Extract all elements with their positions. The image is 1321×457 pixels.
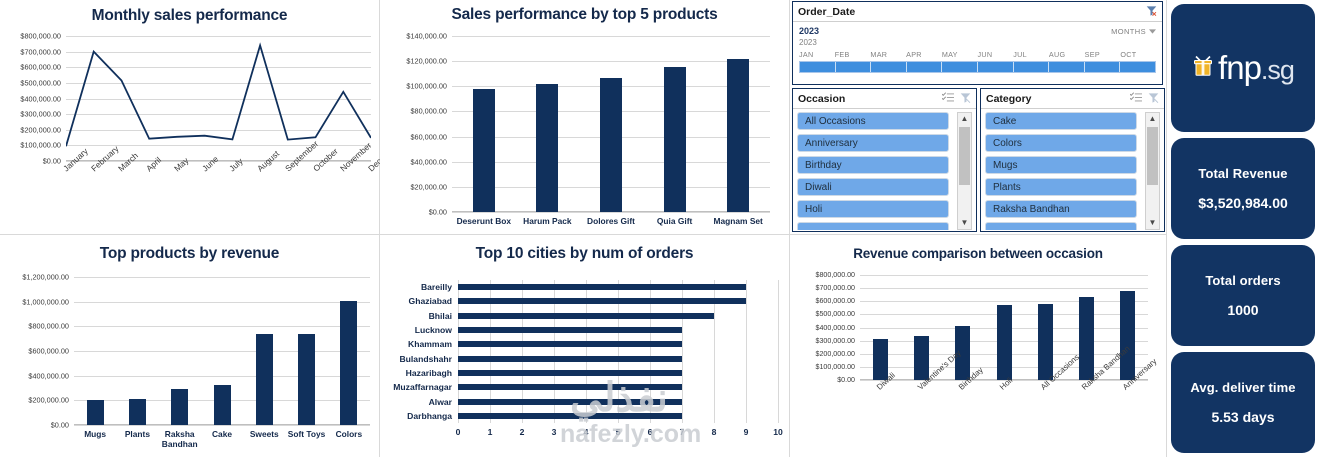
x-axis-tick-label: 7 xyxy=(680,427,685,437)
x-axis-tick-label: 3 xyxy=(552,427,557,437)
y-axis-tick-label: $500,000.00 xyxy=(20,78,66,87)
y-axis-tick-label: $300,000.00 xyxy=(816,337,860,345)
gridline xyxy=(860,275,1148,276)
y-axis-tick-label: $80,000.00 xyxy=(410,107,452,116)
x-axis-tick-label: Raksha Bandhan xyxy=(157,429,203,449)
chart-title-top-cities: Top 10 cities by num of orders xyxy=(380,235,789,263)
scrollbar-thumb[interactable] xyxy=(1147,127,1158,185)
bar xyxy=(473,89,495,212)
slicer-item[interactable]: Holi xyxy=(797,200,949,218)
x-axis-tick-label: Harum Pack xyxy=(523,216,571,226)
slicer-item[interactable]: Cake xyxy=(985,112,1137,130)
slicer-item[interactable]: Anniversary xyxy=(797,134,949,152)
timeline-month-segment[interactable] xyxy=(1120,62,1155,72)
gridline xyxy=(74,351,370,352)
y-axis-tick-label: $600,000.00 xyxy=(816,297,860,305)
x-axis-tick-label: Plants xyxy=(114,429,160,439)
chart-title-top5-products: Sales performance by top 5 products xyxy=(380,0,789,24)
timeline-month-segment[interactable] xyxy=(1049,62,1085,72)
gridline xyxy=(860,301,1148,302)
bar xyxy=(340,301,357,425)
panel-top-cities: Top 10 cities by num of orders 012345678… xyxy=(380,235,790,457)
bar xyxy=(1079,297,1094,380)
bar xyxy=(536,84,558,212)
slicer-category-header: Category xyxy=(981,89,1164,109)
bottom-row: Top products by revenue $0.00$200,000.00… xyxy=(0,235,1166,457)
bar xyxy=(298,334,315,425)
bar xyxy=(256,334,273,425)
y-axis-tick-label: $20,000.00 xyxy=(410,182,452,191)
y-axis-tick-label: Bulandshahr xyxy=(399,354,458,364)
x-axis-tick-label: 4 xyxy=(584,427,589,437)
kpi-card-avg-deliver-time: Avg. deliver time 5.53 days xyxy=(1171,352,1315,453)
timeline-slicer-icons xyxy=(1146,3,1157,21)
kpi-label-total-revenue: Total Revenue xyxy=(1198,166,1287,181)
slicer-item[interactable] xyxy=(797,222,949,230)
chart-plot-monthly-sales: $0.00$100,000.00$200,000.00$300,000.00$4… xyxy=(66,36,371,161)
x-axis-tick-label: 9 xyxy=(744,427,749,437)
y-axis-tick-label: Lucknow xyxy=(415,325,458,335)
timeline-month-label: JAN xyxy=(799,50,835,59)
slicer-occasion-title: Occasion xyxy=(798,93,942,105)
scrollbar-track[interactable] xyxy=(1146,125,1159,217)
gridline xyxy=(746,280,747,423)
bar xyxy=(727,59,749,212)
timeline-month-segment[interactable] xyxy=(978,62,1014,72)
gridline xyxy=(452,61,770,62)
y-axis-tick-label: $200,000.00 xyxy=(816,350,860,358)
x-axis-tick-label: Colors xyxy=(326,429,372,439)
x-axis-tick-label: Cake xyxy=(199,429,245,439)
x-axis-tick-label: 0 xyxy=(456,427,461,437)
scrollbar-track[interactable] xyxy=(958,125,971,217)
slicer-item[interactable]: Diwali xyxy=(797,178,949,196)
timeline-month-segment[interactable] xyxy=(871,62,907,72)
timeline-month-label: JUN xyxy=(978,50,1014,59)
chart-title-top-products-revenue: Top products by revenue xyxy=(0,235,379,263)
slicer-item[interactable]: Birthday xyxy=(797,156,949,174)
slicer-occasion-scrollbar[interactable]: ▲ ▼ xyxy=(957,112,972,230)
timeline-year-subheader: 2023 xyxy=(799,38,1156,47)
bar xyxy=(664,67,686,212)
slicer-occasion-items[interactable]: All OccasionsAnniversaryBirthdayDiwaliHo… xyxy=(797,112,949,230)
slicer-occasion-header: Occasion xyxy=(793,89,976,109)
chevron-up-icon[interactable]: ▲ xyxy=(1149,113,1157,125)
slicer-category-items[interactable]: CakeColorsMugsPlantsRaksha Bandhan xyxy=(985,112,1137,230)
y-axis-tick-label: Bareilly xyxy=(421,282,458,292)
y-axis-tick-label: $60,000.00 xyxy=(410,132,452,141)
slicer-category-scrollbar[interactable]: ▲ ▼ xyxy=(1145,112,1160,230)
y-axis-tick-label: $400,000.00 xyxy=(20,94,66,103)
y-axis-tick-label: $1,000,000.00 xyxy=(22,297,74,306)
y-axis-tick-label: $700,000.00 xyxy=(816,284,860,292)
multi-select-icon[interactable] xyxy=(942,90,954,108)
dashboard: Monthly sales performance $0.00$100,000.… xyxy=(0,0,1321,457)
slicer-item[interactable]: Mugs xyxy=(985,156,1137,174)
clear-filter-icon[interactable] xyxy=(960,90,971,108)
chevron-down-icon[interactable]: ▼ xyxy=(1149,217,1157,229)
timeline-month-segment[interactable] xyxy=(942,62,978,72)
timeline-slicer-order-date[interactable]: Order_Date 2023 xyxy=(792,1,1163,85)
line-series xyxy=(66,36,371,161)
bar xyxy=(458,327,682,333)
x-axis-tick-label: 8 xyxy=(712,427,717,437)
brand-logo: fnp.sg xyxy=(1192,49,1294,87)
timeline-month-label: AUG xyxy=(1049,50,1085,59)
multi-select-icon[interactable] xyxy=(1130,90,1142,108)
y-axis-tick-label: Ghaziabad xyxy=(409,296,458,306)
gridline xyxy=(74,302,370,303)
panel-top-products-revenue: Top products by revenue $0.00$200,000.00… xyxy=(0,235,380,457)
bar xyxy=(129,399,146,425)
brand-logo-card: fnp.sg xyxy=(1171,4,1315,132)
timeline-slicer-header: Order_Date xyxy=(793,2,1162,22)
bar xyxy=(458,284,746,290)
chevron-down-icon xyxy=(1149,29,1156,34)
y-axis-tick-label: Muzaffarnagar xyxy=(393,382,458,392)
gridline xyxy=(778,280,779,423)
charts-area: Monthly sales performance $0.00$100,000.… xyxy=(0,0,1166,457)
gridline xyxy=(74,425,370,426)
y-axis-tick-label: $400,000.00 xyxy=(816,324,860,332)
y-axis-tick-label: $200,000.00 xyxy=(28,396,74,405)
scrollbar-thumb[interactable] xyxy=(959,127,970,185)
bar xyxy=(214,385,231,425)
chevron-up-icon[interactable]: ▲ xyxy=(961,113,969,125)
slicer-item[interactable]: Colors xyxy=(985,134,1137,152)
y-axis-tick-label: $40,000.00 xyxy=(410,157,452,166)
clear-filter-icon[interactable] xyxy=(1148,90,1159,108)
kpi-card-total-orders: Total orders 1000 xyxy=(1171,245,1315,346)
chart-title-revenue-by-occasion: Revenue comparison between occasion xyxy=(790,235,1166,261)
x-axis-tick-label: Soft Toys xyxy=(284,429,330,439)
gridline xyxy=(452,36,770,37)
slicer-item[interactable] xyxy=(985,222,1137,230)
gridline xyxy=(74,376,370,377)
kpi-value-total-orders: 1000 xyxy=(1227,302,1258,318)
kpi-rail: fnp.sg Total Revenue $3,520,984.00 Total… xyxy=(1166,0,1321,457)
y-axis-tick-label: $800,000.00 xyxy=(816,271,860,279)
bar xyxy=(997,305,1012,380)
timeline-month-label: MAY xyxy=(942,50,978,59)
slicer-occasion[interactable]: Occasion xyxy=(792,88,977,232)
x-axis-tick-label: 1 xyxy=(488,427,493,437)
timeline-month-scale: JANFEBMARAPRMAYJUNJULAUGSEPOCT xyxy=(799,50,1156,59)
timeline-month-segment[interactable] xyxy=(1014,62,1050,72)
y-axis-tick-label: $500,000.00 xyxy=(816,310,860,318)
x-axis-tick-label: Mugs xyxy=(72,429,118,439)
timeline-month-segment[interactable] xyxy=(836,62,872,72)
gridline xyxy=(74,326,370,327)
y-axis-tick-label: $600,000.00 xyxy=(20,63,66,72)
top-row: Monthly sales performance $0.00$100,000.… xyxy=(0,0,1166,235)
y-axis-tick-label: Khammam xyxy=(408,339,458,349)
y-axis-tick-label: $100,000.00 xyxy=(816,363,860,371)
brand-logo-text: fnp.sg xyxy=(1218,49,1294,87)
chart-plot-revenue-by-occasion: $0.00$100,000.00$200,000.00$300,000.00$4… xyxy=(860,275,1148,380)
bar xyxy=(1120,291,1135,380)
timeline-slicer-body[interactable]: 2023 MONTHS 2023 JANFEBMARAPRMAYJUNJULAU… xyxy=(793,22,1162,73)
chart-plot-top-cities: 012345678910BareillyGhaziabadBhilaiLuckn… xyxy=(458,280,778,423)
x-axis-tick-label: 5 xyxy=(616,427,621,437)
slicer-category-icons xyxy=(1130,90,1159,108)
timeline-selection-bar[interactable] xyxy=(799,61,1156,73)
y-axis-tick-label: $0.00 xyxy=(51,421,74,430)
y-axis-tick-label: $140,000.00 xyxy=(406,32,452,41)
y-axis-tick-label: $100,000.00 xyxy=(20,141,66,150)
bar xyxy=(458,384,682,390)
bar xyxy=(1038,304,1053,380)
y-axis-tick-label: $800,000.00 xyxy=(20,32,66,41)
x-axis-tick-label: Deserunt Box xyxy=(457,216,511,226)
x-axis-tick-label: 2 xyxy=(520,427,525,437)
slicer-item[interactable]: All Occasions xyxy=(797,112,949,130)
y-axis-tick-label: $120,000.00 xyxy=(406,57,452,66)
panel-top5-products: Sales performance by top 5 products $0.0… xyxy=(380,0,790,235)
bar xyxy=(458,298,746,304)
gridline xyxy=(74,277,370,278)
slicer-category[interactable]: Category xyxy=(980,88,1165,232)
timeline-slicer-title: Order_Date xyxy=(798,6,1146,18)
x-axis-tick-label: 6 xyxy=(648,427,653,437)
y-axis-tick-label: $0.00 xyxy=(429,208,452,217)
gridline xyxy=(860,288,1148,289)
timeline-year-label: 2023 xyxy=(799,26,819,36)
x-axis-tick-label: Magnam Set xyxy=(714,216,763,226)
kpi-value-total-revenue: $3,520,984.00 xyxy=(1198,195,1288,211)
y-axis-tick-label: $0.00 xyxy=(837,376,860,384)
bar xyxy=(458,399,682,405)
timeline-month-label: APR xyxy=(906,50,942,59)
kpi-value-avg-deliver-time: 5.53 days xyxy=(1211,409,1274,425)
timeline-month-label: JUL xyxy=(1013,50,1049,59)
y-axis-tick-label: $700,000.00 xyxy=(20,47,66,56)
chart-title-monthly-sales: Monthly sales performance xyxy=(0,0,379,25)
bar xyxy=(458,341,682,347)
kpi-card-total-revenue: Total Revenue $3,520,984.00 xyxy=(1171,138,1315,239)
kpi-label-avg-deliver-time: Avg. deliver time xyxy=(1190,380,1295,395)
x-axis-tick-label: Sweets xyxy=(241,429,287,439)
slicer-item[interactable]: Raksha Bandhan xyxy=(985,200,1137,218)
slicer-item[interactable]: Plants xyxy=(985,178,1137,196)
chart-plot-top-products-revenue: $0.00$200,000.00$400,000.00$600,000.00$8… xyxy=(74,277,370,425)
slicer-occasion-list[interactable]: All OccasionsAnniversaryBirthdayDiwaliHo… xyxy=(793,109,976,230)
y-axis-tick-label: Darbhanga xyxy=(407,411,458,421)
y-axis-tick-label: Alwar xyxy=(429,397,458,407)
bar xyxy=(458,413,682,419)
slicer-category-list[interactable]: CakeColorsMugsPlantsRaksha Bandhan ▲ ▼ xyxy=(981,109,1164,230)
y-axis-tick-label: $100,000.00 xyxy=(406,82,452,91)
y-axis-tick-label: $1,200,000.00 xyxy=(22,273,74,282)
slicer-panel: Order_Date 2023 xyxy=(790,0,1166,235)
slicer-occasion-icons xyxy=(942,90,971,108)
y-axis-tick-label: Hazaribagh xyxy=(406,368,458,378)
timeline-month-label: OCT xyxy=(1120,50,1156,59)
bar xyxy=(87,400,104,425)
bar xyxy=(458,356,682,362)
kpi-label-total-orders: Total orders xyxy=(1205,273,1280,288)
y-axis-tick-label: $300,000.00 xyxy=(20,110,66,119)
timeline-month-label: FEB xyxy=(835,50,871,59)
x-axis-tick-label: 10 xyxy=(773,427,783,437)
bar xyxy=(171,389,188,425)
timeline-header-row: 2023 MONTHS xyxy=(799,26,1156,36)
y-axis-tick-label: $600,000.00 xyxy=(28,347,74,356)
panel-revenue-by-occasion: Revenue comparison between occasion $0.0… xyxy=(790,235,1166,457)
timeline-month-label: SEP xyxy=(1085,50,1121,59)
x-axis-tick-label: Dolores Gift xyxy=(587,216,635,226)
slicer-category-title: Category xyxy=(986,93,1130,105)
chart-plot-top5-products: $0.00$20,000.00$40,000.00$60,000.00$80,0… xyxy=(452,36,770,212)
gridline xyxy=(452,212,770,213)
timeline-month-label: MAR xyxy=(870,50,906,59)
bar xyxy=(600,78,622,212)
gift-box-icon xyxy=(1192,54,1214,83)
timeline-month-segment[interactable] xyxy=(907,62,943,72)
panel-monthly-sales: Monthly sales performance $0.00$100,000.… xyxy=(0,0,380,235)
bar xyxy=(458,370,682,376)
timeline-month-segment[interactable] xyxy=(1085,62,1121,72)
clear-filter-icon[interactable] xyxy=(1146,3,1157,21)
timeline-level-label: MONTHS xyxy=(1111,27,1146,36)
timeline-level-selector[interactable]: MONTHS xyxy=(1111,27,1156,36)
timeline-month-segment[interactable] xyxy=(800,62,836,72)
chevron-down-icon[interactable]: ▼ xyxy=(961,217,969,229)
y-axis-tick-label: Bhilai xyxy=(429,311,458,321)
y-axis-tick-label: $400,000.00 xyxy=(28,371,74,380)
bar xyxy=(458,313,714,319)
x-axis-tick-label: Quia Gift xyxy=(657,216,692,226)
y-axis-tick-label: $800,000.00 xyxy=(28,322,74,331)
y-axis-tick-label: $200,000.00 xyxy=(20,125,66,134)
